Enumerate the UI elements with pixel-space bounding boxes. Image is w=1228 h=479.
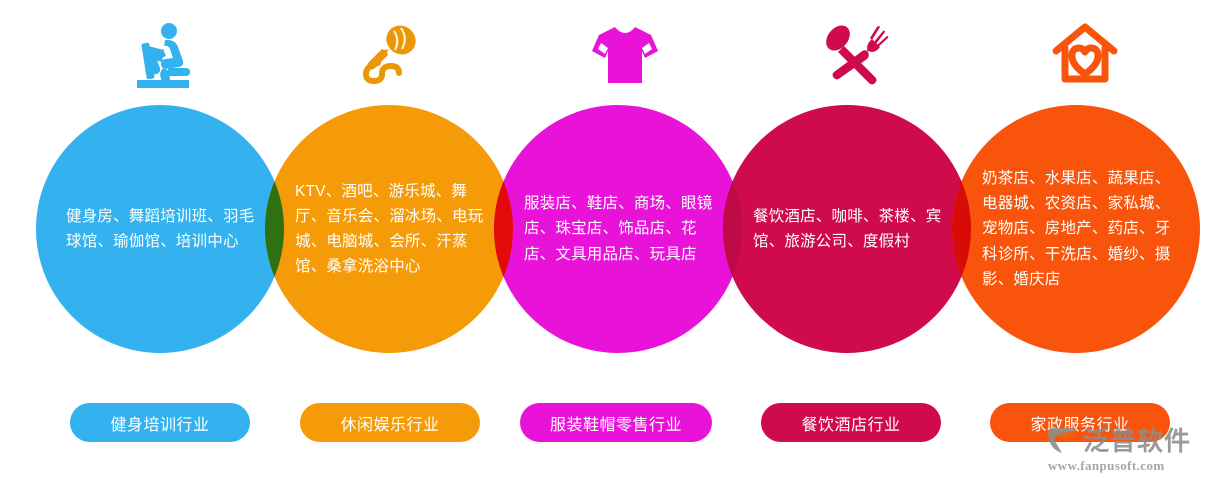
label-pill-entertainment-text: 休闲娱乐行业 (340, 411, 439, 435)
circle-text-entertainment-content: KTV、酒吧、游乐城、舞厅、音乐会、溜冰场、电玩城、电脑城、会所、汗蒸馆、桑拿洗… (295, 179, 485, 279)
circle-text-homeservice-content: 奶茶店、水果店、蔬果店、电器城、农资店、家私城、宠物店、房地产、药店、牙科诊所、… (982, 166, 1172, 292)
label-pill-fitness[interactable]: 健身培训行业 (70, 403, 250, 442)
label-pill-catering[interactable]: 餐饮酒店行业 (761, 403, 941, 442)
label-pill-entertainment[interactable]: 休闲娱乐行业 (300, 403, 480, 442)
circle-text-entertainment: KTV、酒吧、游乐城、舞厅、音乐会、溜冰场、电玩城、电脑城、会所、汗蒸馆、桑拿洗… (265, 105, 513, 353)
house-heart-icon (1025, 14, 1145, 94)
circle-text-fitness: 健身房、舞蹈培训班、羽毛球馆、瑜伽馆、培训中心 (36, 105, 284, 353)
fork-spoon-icon (795, 14, 915, 94)
label-pill-fitness-text: 健身培训行业 (110, 411, 209, 435)
watermark-brand: 泛普软件 (1083, 428, 1191, 454)
fanpu-logo-icon (1046, 426, 1080, 456)
circle-text-fitness-content: 健身房、舞蹈培训班、羽毛球馆、瑜伽馆、培训中心 (66, 204, 256, 254)
tshirt-icon (565, 14, 685, 94)
circle-text-homeservice: 奶茶店、水果店、蔬果店、电器城、农资店、家私城、宠物店、房地产、药店、牙科诊所、… (952, 105, 1200, 353)
circle-text-apparel-content: 服装店、鞋店、商场、眼镜店、珠宝店、饰品店、花店、文具用品店、玩具店 (524, 191, 714, 266)
label-pill-apparel[interactable]: 服装鞋帽零售行业 (520, 403, 712, 442)
circle-text-apparel: 服装店、鞋店、商场、眼镜店、珠宝店、饰品店、花店、文具用品店、玩具店 (494, 105, 742, 353)
treadmill-exercise-icon (100, 14, 220, 94)
infographic-canvas: 健身房、舞蹈培训班、羽毛球馆、瑜伽馆、培训中心 KTV、酒吧、游乐城、舞厅、音乐… (0, 0, 1228, 479)
watermark: 泛普软件 www.fanpusoft.com (1046, 425, 1222, 475)
circle-text-catering-content: 餐饮酒店、咖啡、茶楼、宾馆、旅游公司、度假村 (753, 204, 943, 254)
label-pill-catering-text: 餐饮酒店行业 (801, 411, 900, 435)
circle-text-catering: 餐饮酒店、咖啡、茶楼、宾馆、旅游公司、度假村 (723, 105, 971, 353)
label-pill-apparel-text: 服装鞋帽零售行业 (550, 411, 682, 435)
microphone-icon (330, 14, 450, 94)
watermark-url: www.fanpusoft.com (1048, 458, 1222, 474)
